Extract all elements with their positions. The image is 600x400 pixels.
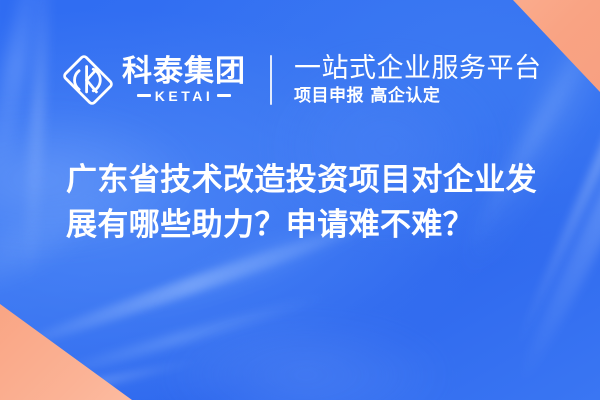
tagline-primary: 一站式企业服务平台 <box>294 53 542 84</box>
brand-name-cn: 科泰集团 <box>122 57 246 88</box>
brand-logo: 科泰集团 KETAI <box>60 52 246 108</box>
banner-header: 科泰集团 KETAI 一站式企业服务平台 项目申报 高企认定 <box>60 48 542 112</box>
wordmark-rule-left <box>137 94 151 97</box>
ketai-diamond-monogram-icon <box>60 52 116 108</box>
title-line-1: 广东省技术改造投资项目对企业发 <box>66 158 546 203</box>
header-divider <box>270 55 272 105</box>
tagline-secondary: 项目申报 高企认定 <box>294 87 542 107</box>
banner-title: 广东省技术改造投资项目对企业发 展有哪些助力？申请难不难？ <box>66 158 546 248</box>
brand-name-en-row: KETAI <box>137 89 231 103</box>
promo-banner: 科泰集团 KETAI 一站式企业服务平台 项目申报 高企认定 广东省技术改造投资… <box>0 0 600 400</box>
brand-wordmark: 科泰集团 KETAI <box>122 57 246 103</box>
wordmark-rule-right <box>217 94 231 97</box>
title-line-2: 展有哪些助力？申请难不难？ <box>66 203 546 248</box>
tagline-block: 一站式企业服务平台 项目申报 高企认定 <box>294 53 542 107</box>
brand-name-en: KETAI <box>155 89 213 103</box>
